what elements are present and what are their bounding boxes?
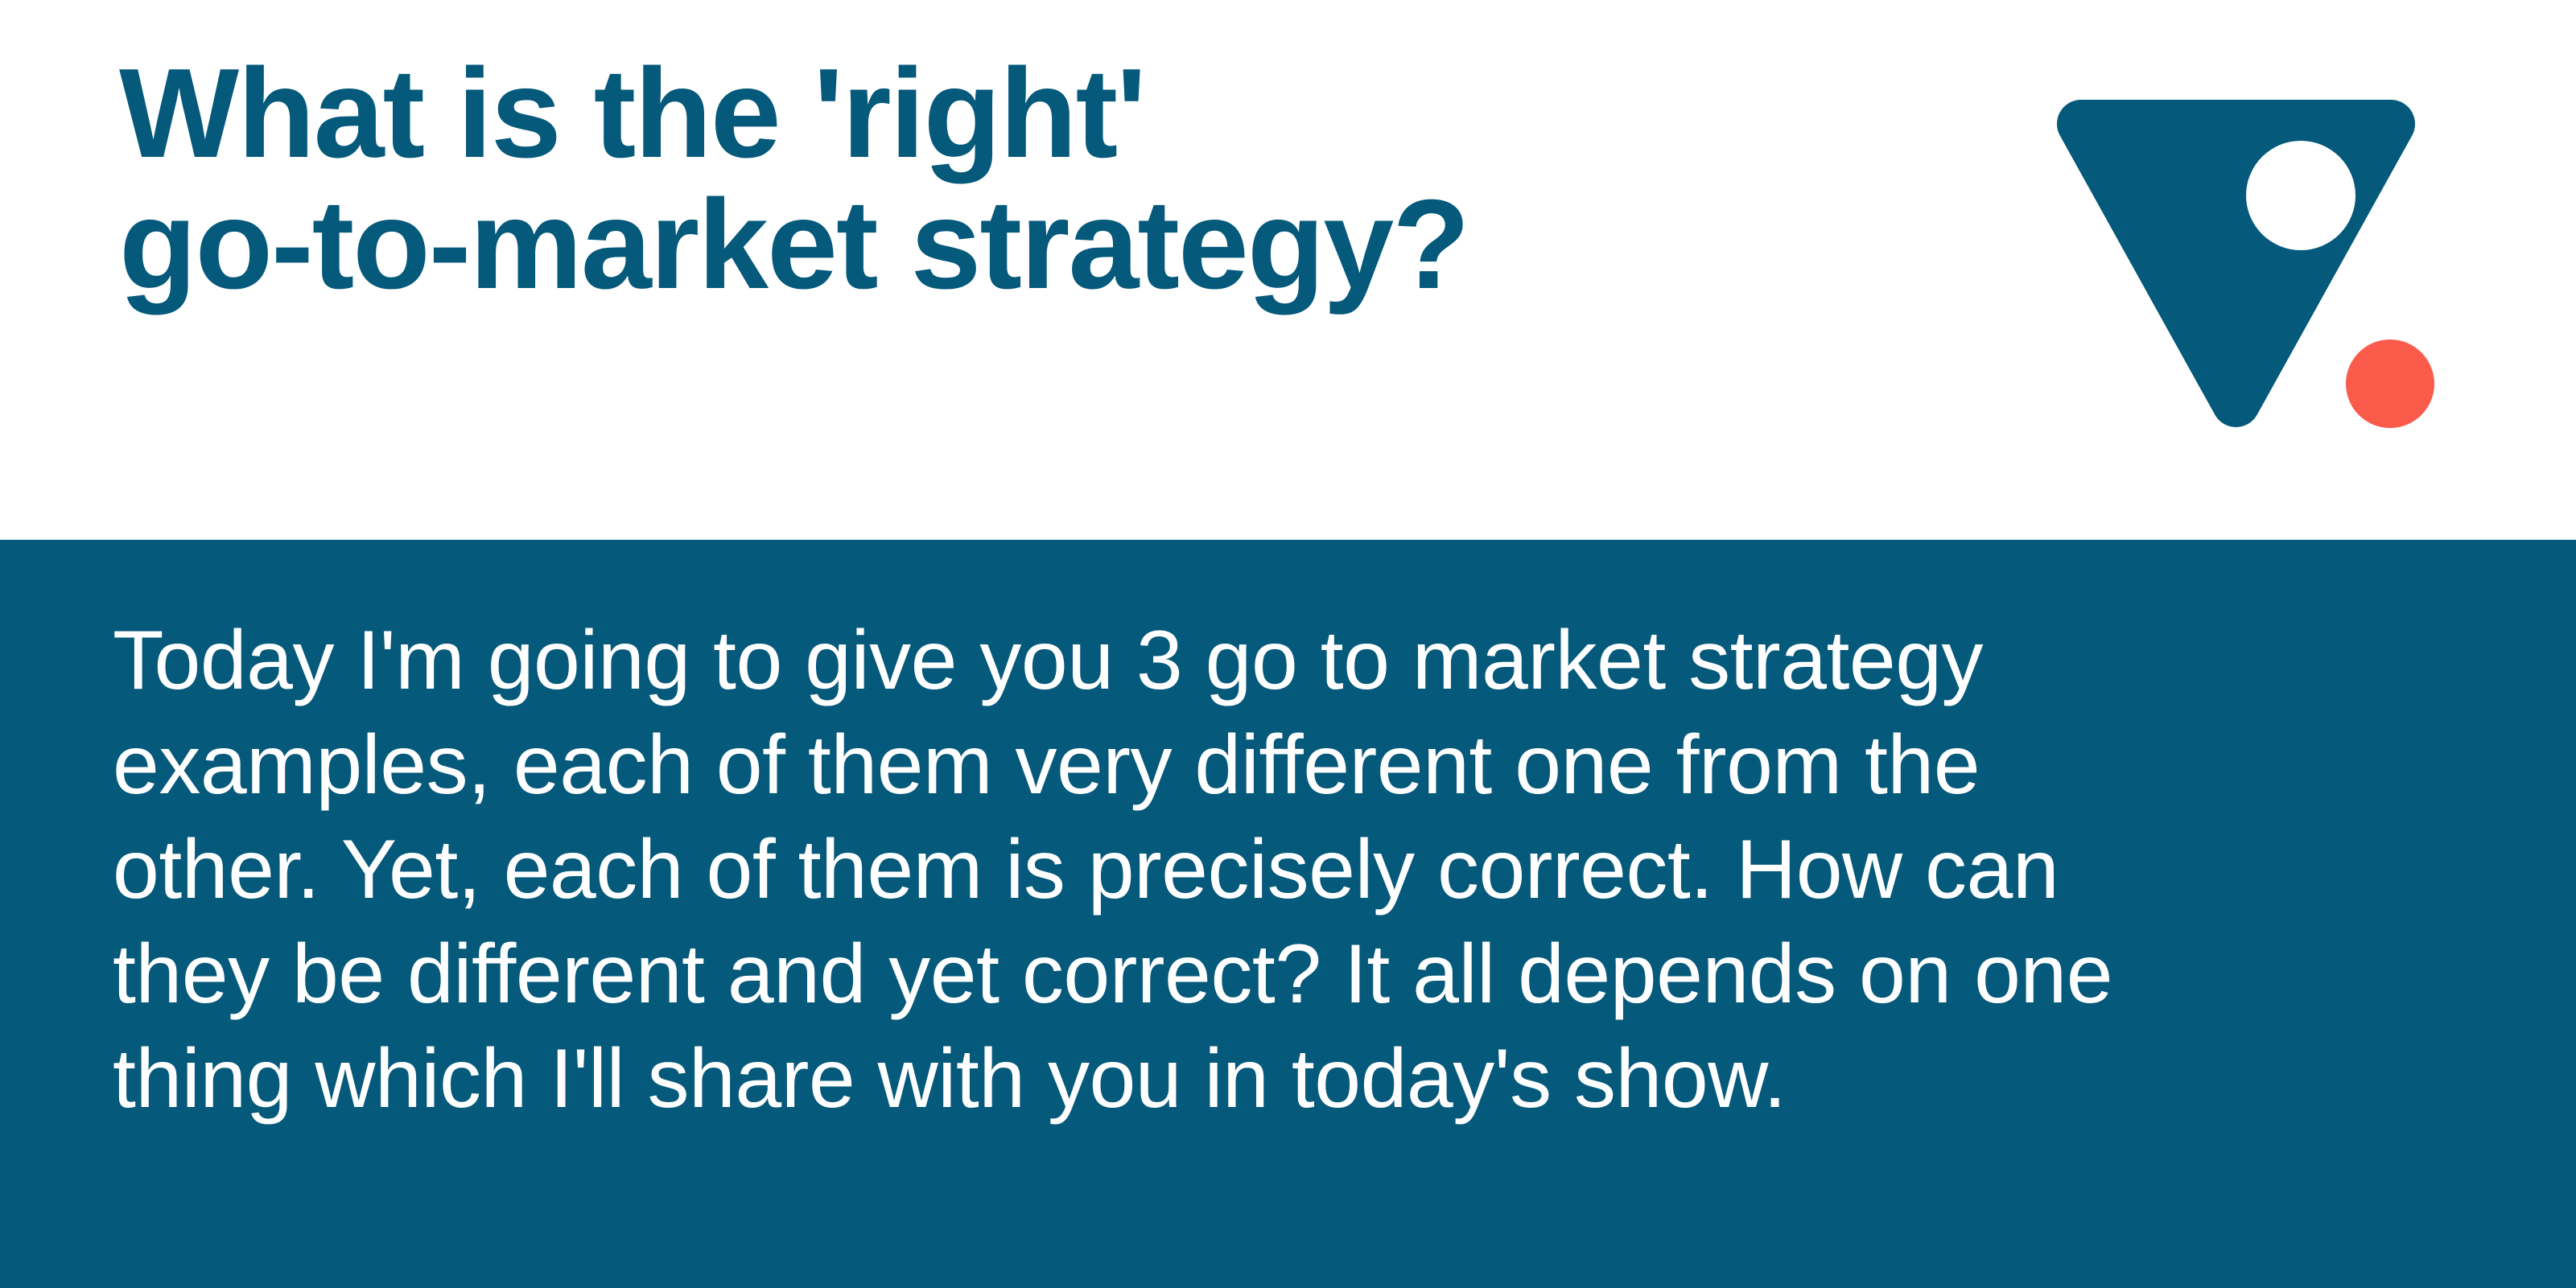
body-line-4: they be different and yet correct? It al… xyxy=(113,922,2495,1027)
brand-logo xyxy=(2057,88,2435,442)
body-line-2: examples, each of them very different on… xyxy=(113,713,2495,817)
triangle-logo-icon xyxy=(2057,88,2435,442)
promo-card: What is the 'right' go-to-market strateg… xyxy=(0,0,2576,1288)
page-title: What is the 'right' go-to-market strateg… xyxy=(119,48,2002,310)
title-line-1: What is the 'right' xyxy=(119,48,2002,179)
inner-white-circle xyxy=(2246,141,2355,250)
coral-accent-dot xyxy=(2346,339,2434,428)
body-line-5: thing which I'll share with you in today… xyxy=(113,1027,2495,1131)
title-line-2: go-to-market strategy? xyxy=(119,179,2002,311)
body-line-3: other. Yet, each of them is precisely co… xyxy=(113,817,2495,922)
header-section: What is the 'right' go-to-market strateg… xyxy=(0,0,2576,540)
description-paragraph: Today I'm going to give you 3 go to mark… xyxy=(113,608,2495,1131)
body-section: Today I'm going to give you 3 go to mark… xyxy=(0,540,2576,1288)
body-line-1: Today I'm going to give you 3 go to mark… xyxy=(113,608,2495,713)
